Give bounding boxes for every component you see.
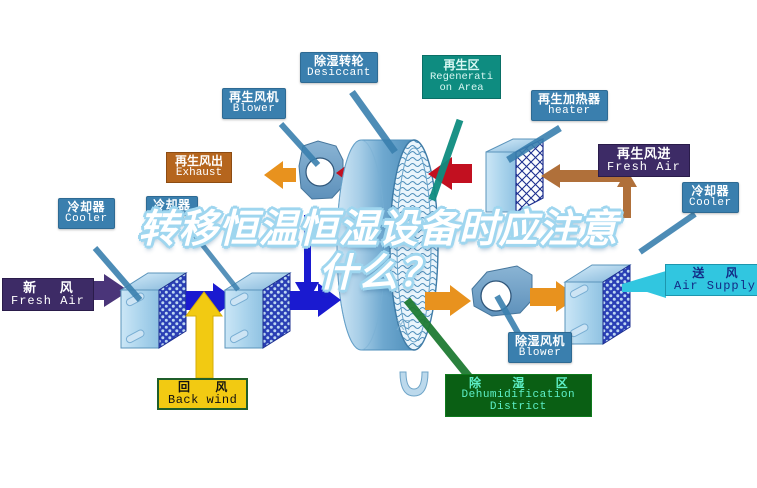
label-air-supply-en: Air Supply bbox=[674, 280, 756, 293]
label-desiccant[interactable]: 除湿转轮 Desiccant bbox=[300, 52, 378, 83]
wheel-watermark: XT bbox=[396, 319, 413, 334]
label-air-supply-cn: 送 风 bbox=[674, 267, 756, 280]
regeneration-heater bbox=[486, 139, 543, 212]
label-fresh-air-cn: 新 风 bbox=[11, 281, 85, 295]
label-regeneration-area[interactable]: 再生区 Regenerati on Area bbox=[422, 55, 501, 99]
label-regen-blower-cn: 再生风机 bbox=[229, 91, 279, 104]
label-regen-heater-cn: 再生加热器 bbox=[538, 93, 601, 106]
label-cooler-left-a-cn: 冷却器 bbox=[65, 201, 108, 214]
label-back-wind-en: Back wind bbox=[167, 394, 238, 407]
process-down-arrow bbox=[295, 215, 319, 303]
label-exhaust-cn: 再生风出 bbox=[175, 155, 223, 168]
label-regen-blower-en: Blower bbox=[229, 104, 279, 116]
label-cooler-right[interactable]: 冷却器 Cooler bbox=[682, 182, 739, 213]
label-dehum-blower[interactable]: 除湿风机 Blower bbox=[508, 332, 572, 363]
label-regen-blower[interactable]: 再生风机 Blower bbox=[222, 88, 286, 119]
label-dehumidification-district[interactable]: 除 湿 区 Dehumidification District bbox=[445, 374, 592, 417]
label-desiccant-cn: 除湿转轮 bbox=[307, 55, 371, 68]
label-desiccant-en: Desiccant bbox=[307, 68, 371, 80]
label-regen-heater[interactable]: 再生加热器 heater bbox=[531, 90, 608, 121]
label-dehum-district-en2: District bbox=[455, 402, 582, 414]
label-fresh-air-in-en: Fresh Air bbox=[607, 161, 681, 174]
label-cooler-right-en: Cooler bbox=[689, 198, 732, 210]
label-regen-area-en2: on Area bbox=[430, 83, 493, 94]
label-exhaust[interactable]: 再生风出 Exhaust bbox=[166, 152, 232, 183]
dehumidifier-schematic: XT bbox=[0, 0, 757, 488]
label-fresh-air-en: Fresh Air bbox=[11, 295, 85, 308]
pre-cooling-coil-1 bbox=[121, 273, 186, 348]
label-dehum-blower-cn: 除湿风机 bbox=[515, 335, 565, 348]
label-fresh-air-in[interactable]: 再生风进 Fresh Air bbox=[598, 144, 690, 177]
drain-pan bbox=[400, 372, 428, 396]
exhaust-arrow bbox=[264, 161, 296, 189]
label-fresh-air-in-cn: 再生风进 bbox=[607, 147, 681, 161]
label-back-wind-cn: 回 风 bbox=[167, 381, 238, 394]
label-exhaust-en: Exhaust bbox=[175, 168, 223, 180]
label-cooler-left-b[interactable]: 冷却器 bbox=[146, 196, 198, 216]
label-cooler-left-a-en: Cooler bbox=[65, 214, 108, 226]
diagram-canvas: XT bbox=[0, 0, 757, 488]
label-cooler-left-a[interactable]: 冷却器 Cooler bbox=[58, 198, 115, 229]
post-cooling-coil bbox=[565, 265, 630, 344]
label-regen-heater-en: heater bbox=[538, 106, 601, 118]
label-cooler-left-b-cn: 冷却器 bbox=[153, 199, 191, 212]
label-dehum-blower-en: Blower bbox=[515, 348, 565, 360]
label-cooler-right-cn: 冷却器 bbox=[689, 185, 732, 198]
label-fresh-air[interactable]: 新 风 Fresh Air bbox=[2, 278, 94, 311]
label-dehum-district-cn: 除 湿 区 bbox=[455, 377, 582, 390]
label-back-wind[interactable]: 回 风 Back wind bbox=[157, 378, 248, 410]
label-regen-area-cn: 再生区 bbox=[430, 59, 493, 72]
label-air-supply[interactable]: 送 风 Air Supply bbox=[665, 264, 757, 296]
